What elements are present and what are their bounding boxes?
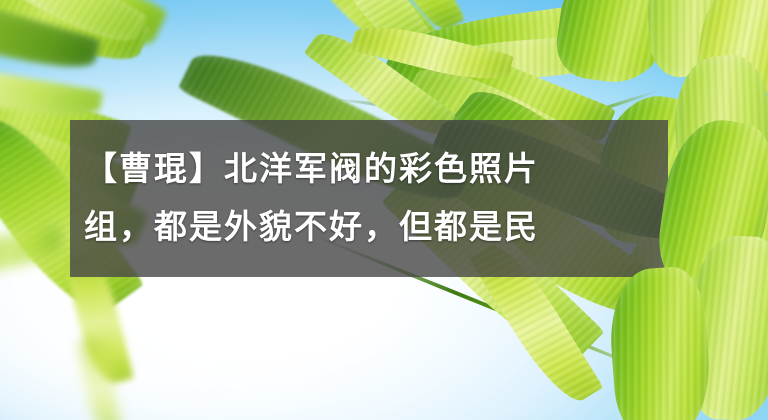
- cover-image: 【曹琨】北洋军阀的彩色照片 组，都是外貌不好，但都是民: [0, 0, 768, 420]
- title-line-1: 【曹琨】北洋军阀的彩色照片: [84, 141, 668, 199]
- title-line-2: 组，都是外貌不好，但都是民: [84, 199, 668, 257]
- leaf-foreground-right-3: [606, 265, 714, 420]
- title-overlay-band: 【曹琨】北洋军阀的彩色照片 组，都是外貌不好，但都是民: [70, 120, 668, 277]
